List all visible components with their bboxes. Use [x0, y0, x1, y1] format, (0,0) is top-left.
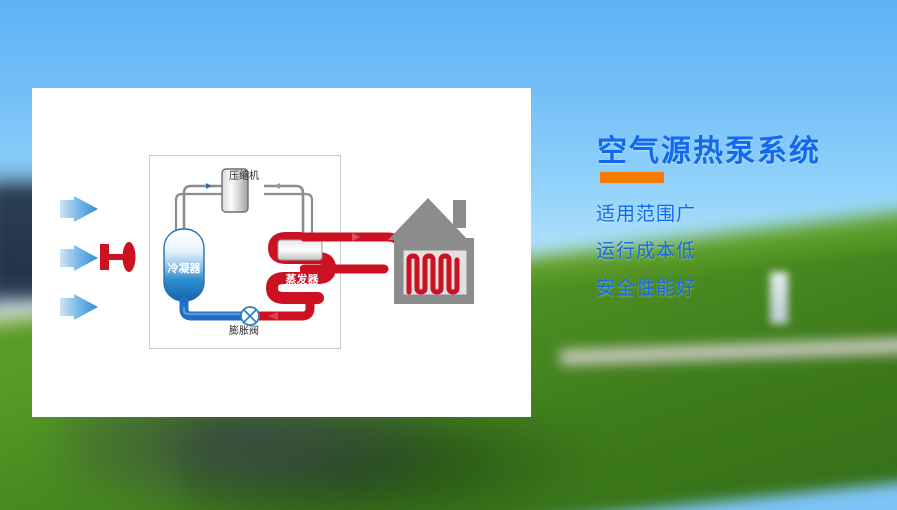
- feature-list: 适用范围广 运行成本低 安全性能好: [596, 204, 856, 315]
- house-illustration: [382, 196, 494, 306]
- expansion-valve-label: 膨胀阀: [149, 326, 339, 338]
- accent-bar: [600, 172, 664, 183]
- condenser-label: 冷凝器: [168, 261, 202, 275]
- fan-icon: [98, 236, 140, 278]
- list-item: 安全性能好: [596, 278, 856, 299]
- list-item: 运行成本低: [596, 241, 856, 262]
- list-item: 适用范围广: [596, 204, 856, 225]
- airflow-arrow-icon: [60, 245, 98, 271]
- airflow-arrow-icon: [60, 196, 98, 222]
- airflow-arrow-icon: [60, 294, 98, 320]
- page-title: 空气源热泵系统: [597, 126, 821, 170]
- compressor-label: 压缩机: [149, 171, 339, 183]
- slide-canvas: 冷凝器 蒸发器 压缩机 膨胀阀: [0, 0, 897, 510]
